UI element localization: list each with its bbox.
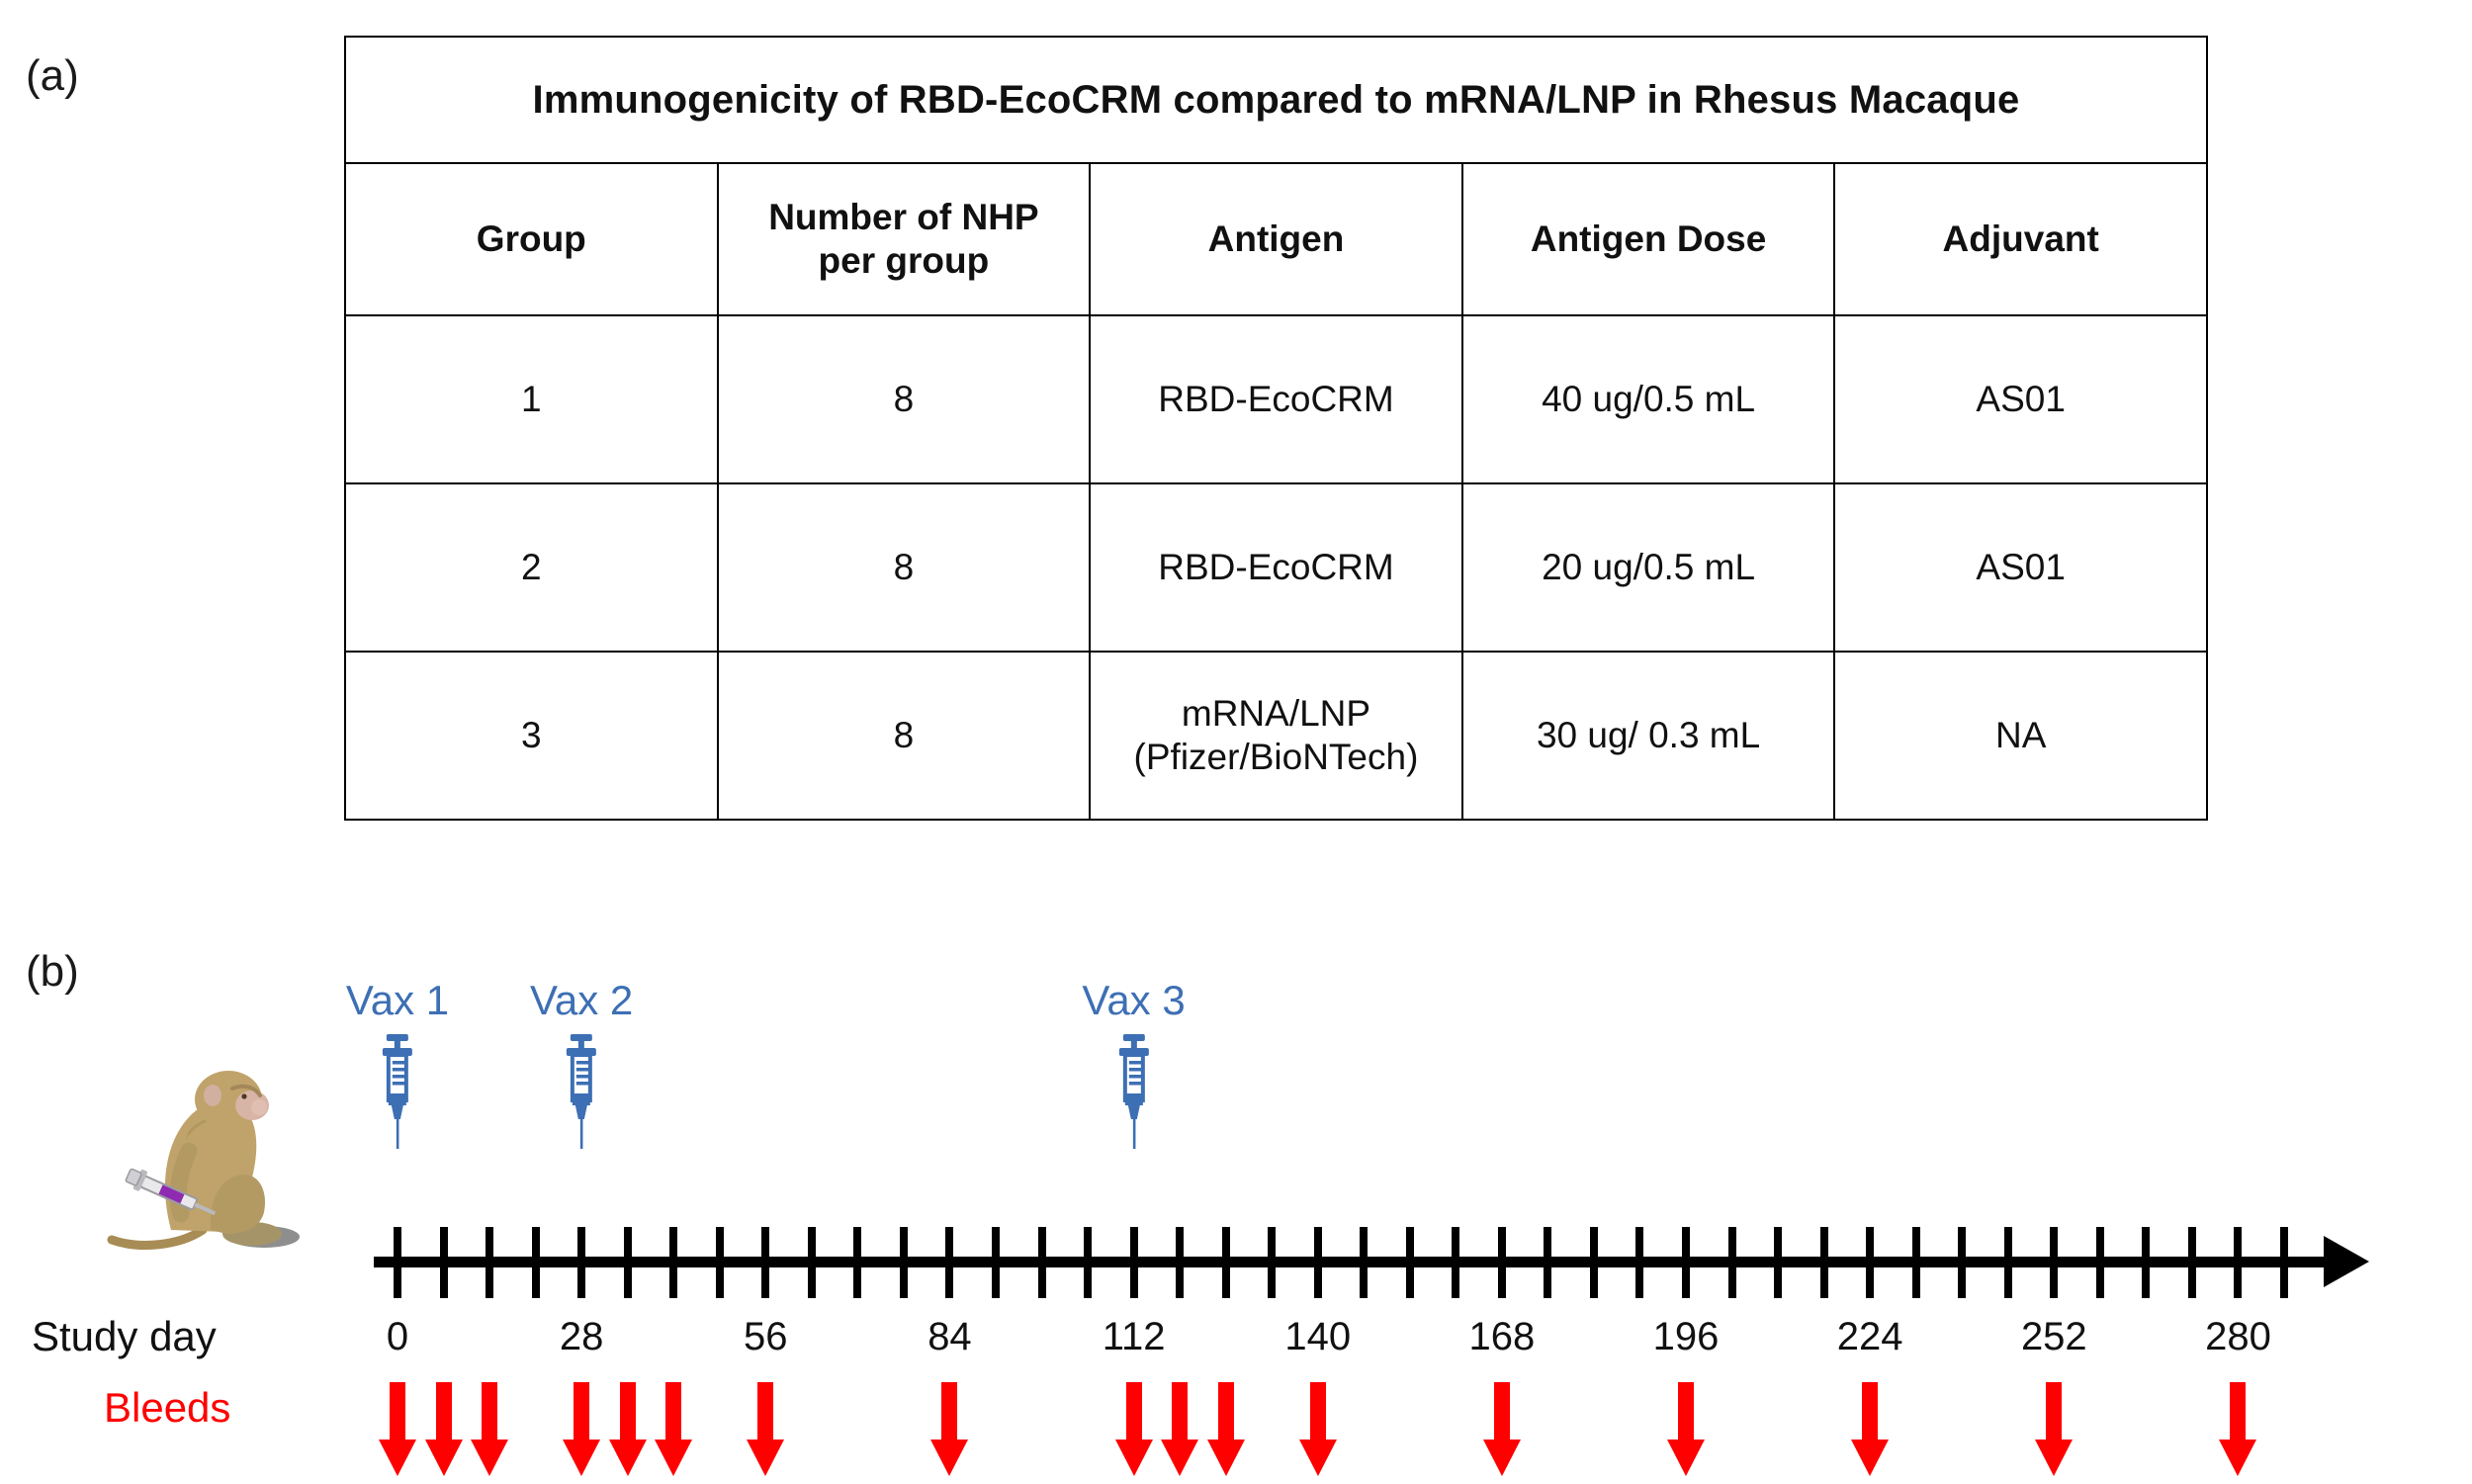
axis-tick — [1774, 1227, 1782, 1298]
syringe-icon — [346, 1034, 449, 1151]
cell-antigen: mRNA/LNP (Pfizer/BioNTech) — [1090, 652, 1462, 820]
table-title-row: Immunogenicity of RBD-EcoCRM compared to… — [345, 37, 2207, 163]
axis-tick — [2096, 1227, 2104, 1298]
table-row: 1 8 RBD-EcoCRM 40 ug/0.5 mL AS01 — [345, 315, 2207, 483]
day-label: 252 — [2021, 1315, 2087, 1359]
axis-tick — [761, 1227, 769, 1298]
axis-tick — [440, 1227, 448, 1298]
column-header-nhp: Number of NHP per group — [718, 163, 1091, 315]
axis-tick — [945, 1227, 953, 1298]
table-title: Immunogenicity of RBD-EcoCRM compared to… — [345, 37, 2207, 163]
panel-b-label: (b) — [26, 947, 79, 997]
vaccination-label: Vax 1 — [346, 977, 449, 1024]
bleed-arrow — [1665, 1382, 1707, 1484]
axis-tick — [1912, 1227, 1920, 1298]
axis-tick — [394, 1227, 401, 1298]
cell-nhp: 8 — [718, 652, 1091, 820]
axis-tick — [2142, 1227, 2150, 1298]
study-design-table: Immunogenicity of RBD-EcoCRM compared to… — [344, 36, 2208, 821]
bleed-arrow — [2217, 1382, 2258, 1484]
syringe-icon — [1082, 1034, 1185, 1151]
bleed-arrow — [2033, 1382, 2075, 1484]
vaccination-marker-3: Vax 3 — [1082, 977, 1185, 1151]
day-label: 28 — [560, 1315, 604, 1359]
cell-antigen: RBD-EcoCRM — [1090, 315, 1462, 483]
bleed-arrow — [1849, 1382, 1891, 1484]
axis-tick — [1406, 1227, 1414, 1298]
day-label: 168 — [1469, 1315, 1536, 1359]
column-header-group: Group — [345, 163, 718, 315]
axis-tick — [1360, 1227, 1368, 1298]
axis-tick — [1084, 1227, 1092, 1298]
column-header-antigen-dose: Antigen Dose — [1462, 163, 1835, 315]
cell-group: 2 — [345, 483, 718, 652]
cell-antigen-line1: RBD-EcoCRM — [1091, 378, 1461, 421]
cell-group: 3 — [345, 652, 718, 820]
syringe-icon — [530, 1034, 633, 1151]
vaccination-marker-1: Vax 1 — [346, 977, 449, 1151]
cell-antigen-line2: (Pfizer/BioNTech) — [1091, 736, 1461, 779]
vaccination-marker-2: Vax 2 — [530, 977, 633, 1151]
day-label: 56 — [744, 1315, 788, 1359]
bleed-arrow — [607, 1382, 649, 1484]
column-header-antigen: Antigen — [1090, 163, 1462, 315]
axis-tick — [2188, 1227, 2196, 1298]
axis-tick — [1038, 1227, 1046, 1298]
study-day-row-label: Study day — [32, 1313, 217, 1360]
bleed-arrow — [423, 1382, 465, 1484]
axis-tick — [1728, 1227, 1736, 1298]
axis-tick — [2004, 1227, 2012, 1298]
axis-tick — [1452, 1227, 1459, 1298]
bleed-arrow — [1481, 1382, 1523, 1484]
cell-antigen-line1: mRNA/LNP — [1091, 692, 1461, 736]
day-label: 280 — [2205, 1315, 2271, 1359]
axis-tick — [486, 1227, 493, 1298]
axis-tick — [2280, 1227, 2288, 1298]
axis-tick — [577, 1227, 585, 1298]
axis-tick — [532, 1227, 540, 1298]
cell-antigen-line1: RBD-EcoCRM — [1091, 546, 1461, 589]
cell-antigen-dose: 40 ug/0.5 mL — [1462, 315, 1835, 483]
bleed-arrow — [561, 1382, 602, 1484]
cell-adjuvant: AS01 — [1834, 483, 2207, 652]
table-row: 3 8 mRNA/LNP (Pfizer/BioNTech) 30 ug/ 0.… — [345, 652, 2207, 820]
axis-tick — [624, 1227, 632, 1298]
cell-group: 1 — [345, 315, 718, 483]
cell-antigen-dose: 30 ug/ 0.3 mL — [1462, 652, 1835, 820]
bleed-arrow — [1159, 1382, 1200, 1484]
bleeds-row-label: Bleeds — [104, 1384, 230, 1432]
cell-antigen-dose: 20 ug/0.5 mL — [1462, 483, 1835, 652]
axis-tick — [1958, 1227, 1966, 1298]
table-row: 2 8 RBD-EcoCRM 20 ug/0.5 mL AS01 — [345, 483, 2207, 652]
axis-tick — [1682, 1227, 1690, 1298]
axis-tick — [1544, 1227, 1551, 1298]
axis-tick — [716, 1227, 724, 1298]
timeline-axis-line — [374, 1257, 2327, 1267]
axis-tick — [1498, 1227, 1506, 1298]
day-label: 224 — [1837, 1315, 1903, 1359]
bleed-arrow — [1297, 1382, 1339, 1484]
cell-nhp: 8 — [718, 315, 1091, 483]
axis-tick — [1222, 1227, 1230, 1298]
bleed-arrow — [653, 1382, 694, 1484]
panel-a-label: (a) — [26, 51, 79, 101]
day-label: 0 — [387, 1315, 408, 1359]
bleed-arrow — [1205, 1382, 1247, 1484]
axis-tick — [900, 1227, 908, 1298]
axis-tick — [1268, 1227, 1276, 1298]
bleed-arrow — [745, 1382, 786, 1484]
day-label: 140 — [1284, 1315, 1351, 1359]
day-label: 112 — [1103, 1315, 1166, 1359]
cell-adjuvant: AS01 — [1834, 315, 2207, 483]
axis-tick — [669, 1227, 677, 1298]
column-header-adjuvant: Adjuvant — [1834, 163, 2207, 315]
axis-tick — [808, 1227, 816, 1298]
axis-tick — [2234, 1227, 2242, 1298]
vaccination-label: Vax 2 — [530, 977, 633, 1024]
column-header-nhp-line1: Number of NHP — [719, 196, 1090, 239]
axis-tick — [1130, 1227, 1138, 1298]
axis-tick — [1590, 1227, 1598, 1298]
bleed-arrow — [469, 1382, 510, 1484]
axis-tick — [1820, 1227, 1828, 1298]
table-header-row: Group Number of NHP per group Antigen An… — [345, 163, 2207, 315]
cell-nhp: 8 — [718, 483, 1091, 652]
day-label: 84 — [927, 1315, 972, 1359]
day-label: 196 — [1653, 1315, 1720, 1359]
timeline-axis-arrowhead — [2324, 1236, 2369, 1287]
bleed-arrow — [1113, 1382, 1155, 1484]
axis-tick — [1176, 1227, 1184, 1298]
axis-tick — [1635, 1227, 1643, 1298]
axis-tick — [853, 1227, 861, 1298]
axis-tick — [1866, 1227, 1874, 1298]
bleed-arrow — [377, 1382, 418, 1484]
axis-tick — [2050, 1227, 2058, 1298]
vaccination-label: Vax 3 — [1082, 977, 1185, 1024]
cell-antigen: RBD-EcoCRM — [1090, 483, 1462, 652]
axis-tick — [1314, 1227, 1322, 1298]
bleed-arrow — [928, 1382, 970, 1484]
axis-tick — [992, 1227, 1000, 1298]
rhesus-macaque-illustration — [94, 1056, 351, 1268]
column-header-nhp-line2: per group — [719, 239, 1090, 283]
cell-adjuvant: NA — [1834, 652, 2207, 820]
